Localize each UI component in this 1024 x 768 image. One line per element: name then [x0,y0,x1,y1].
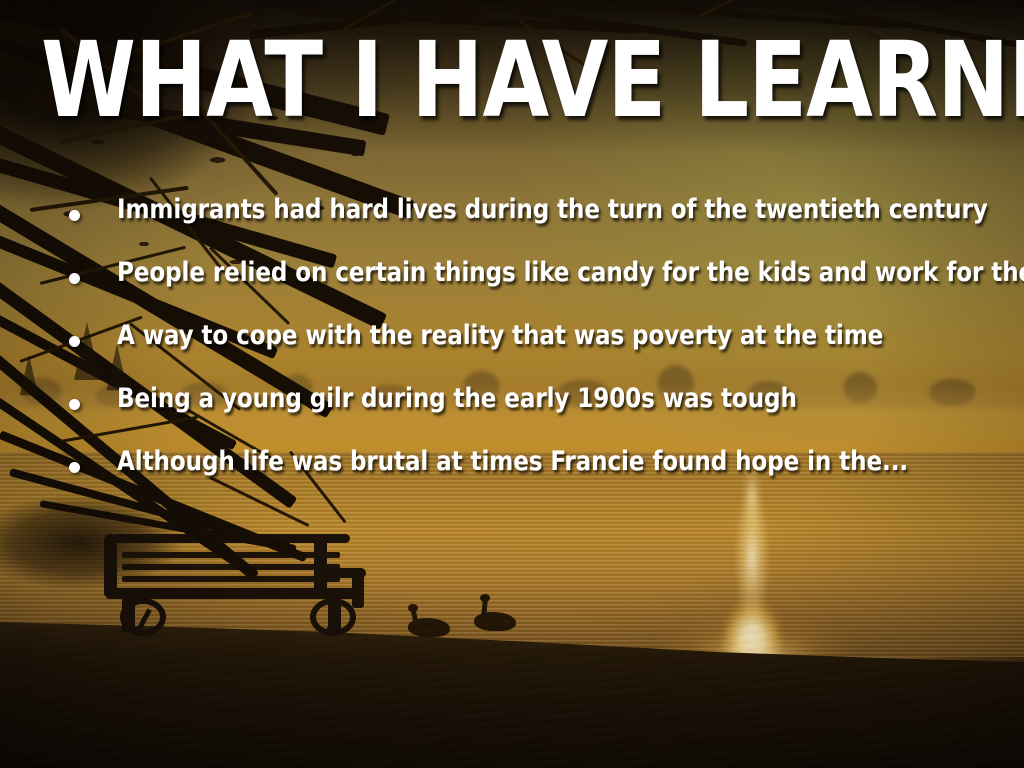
bullet-item: Although life was brutal at times Franci… [62,448,1012,511]
bullet-dot-icon [69,399,80,410]
bullet-dot-icon [69,210,80,221]
bullet-item: Immigrants had hard lives during the tur… [62,196,1012,259]
bullet-text: Immigrants had hard lives during the tur… [117,196,988,224]
bullet-text: Although life was brutal at times Franci… [117,448,908,476]
bullet-item: Being a young gilr during the early 1900… [62,385,1012,448]
slide-title: WHAT I HAVE LEARNED [41,28,983,132]
bullet-dot-icon [69,273,80,284]
bullet-text: People relied on certain things like can… [117,259,1024,287]
bullet-item: People relied on certain things like can… [62,259,1012,322]
bullet-dot-icon [69,462,80,473]
bullet-text: Being a young gilr during the early 1900… [117,385,797,413]
bullet-text: A way to cope with the reality that was … [117,322,883,350]
bullet-item: A way to cope with the reality that was … [62,322,1012,385]
bullet-dot-icon [69,336,80,347]
presentation-slide: WHAT I HAVE LEARNED Immigrants had hard … [0,0,1024,768]
bullet-list: Immigrants had hard lives during the tur… [62,196,1012,511]
slide-content: WHAT I HAVE LEARNED Immigrants had hard … [0,0,1024,768]
